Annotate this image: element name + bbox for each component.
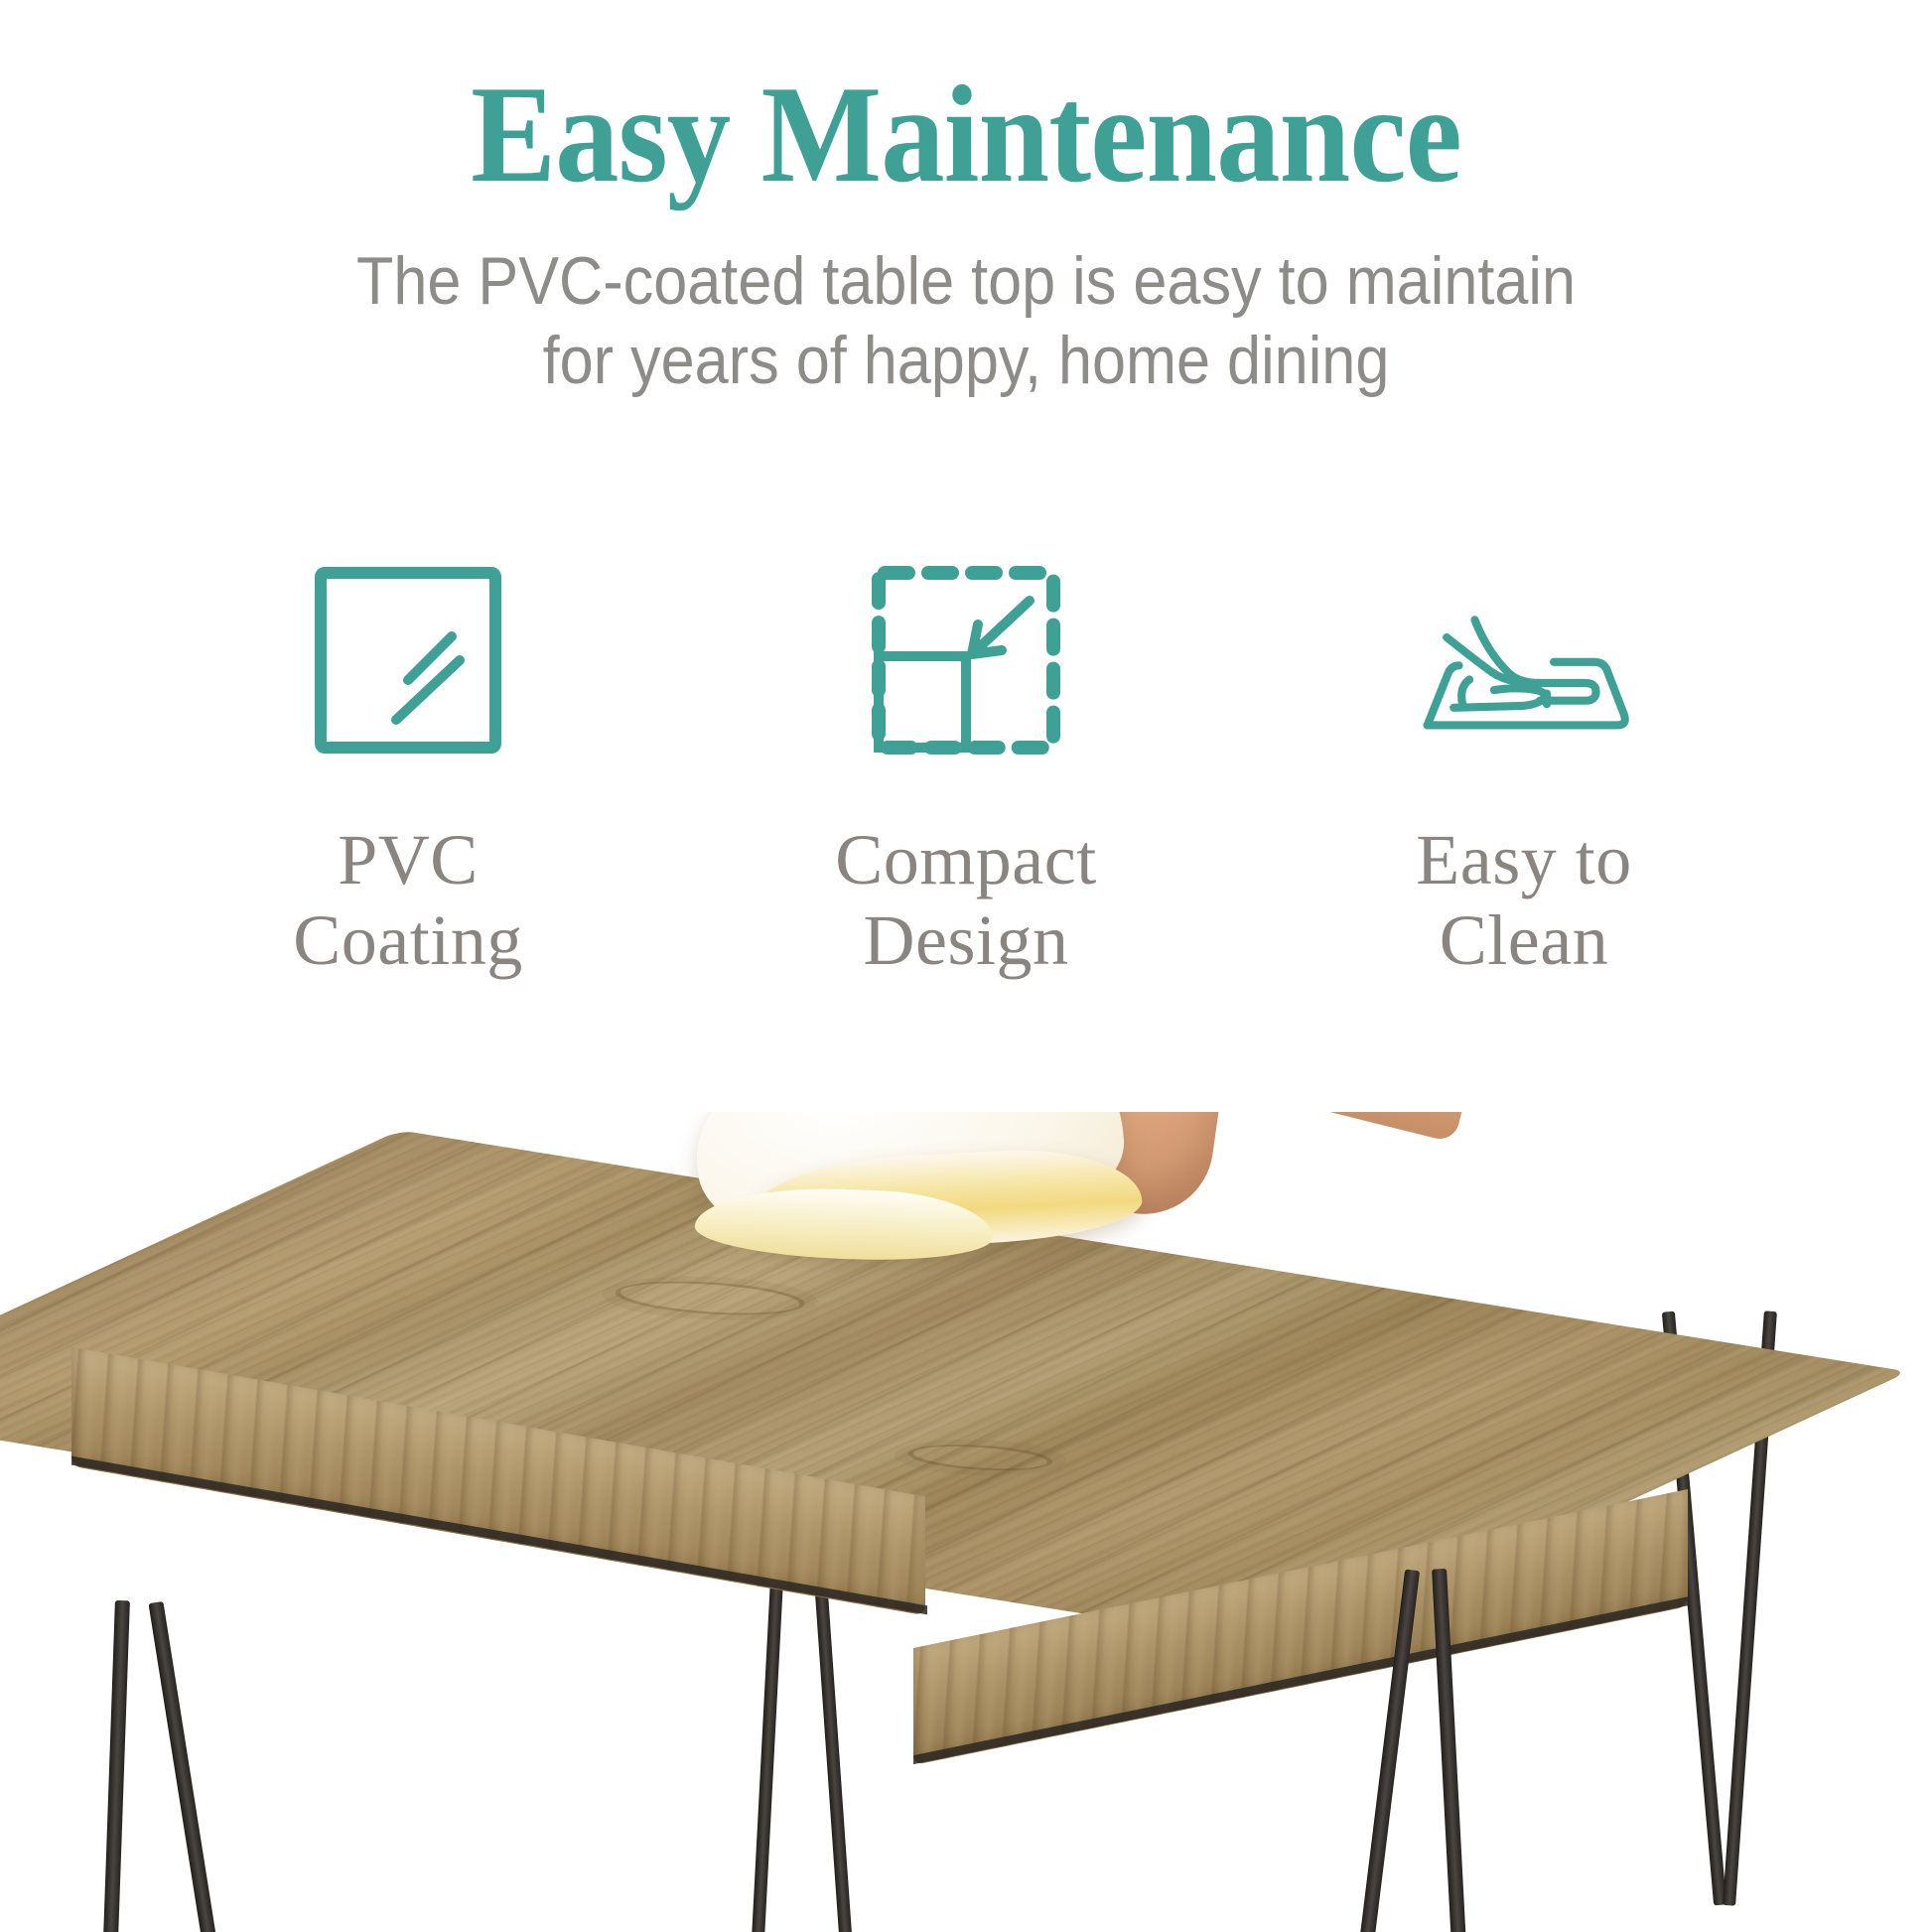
feature-item-easy-to-clean: Easy to Clean [1311, 536, 1737, 980]
page-title: Easy Maintenance [77, 0, 1855, 208]
feature-label-line-1: Easy to [1416, 820, 1631, 900]
header-block: Easy Maintenance The PVC-coated table to… [0, 0, 1932, 400]
feature-label-line-2: Clean [1416, 900, 1631, 981]
feature-label-line-2: Design [835, 900, 1096, 981]
feature-list: PVC Coating Compact Design [0, 536, 1932, 980]
feature-label-easy-to-clean: Easy to Clean [1416, 820, 1631, 980]
subtitle-line-2: for years of happy, home dining [96, 322, 1835, 401]
pvc-coating-square-shine-icon [309, 536, 507, 784]
feature-item-pvc-coating: PVC Coating [195, 536, 621, 980]
feature-label-pvc-coating: PVC Coating [293, 820, 523, 980]
product-feature-card: Easy Maintenance The PVC-coated table to… [0, 0, 1932, 1932]
feature-label-line-1: PVC [293, 820, 523, 900]
compact-design-resize-arrow-icon [867, 536, 1065, 784]
feature-label-line-1: Compact [835, 820, 1096, 900]
feature-label-compact-design: Compact Design [835, 820, 1096, 980]
page-subtitle: The PVC-coated table top is easy to main… [96, 208, 1835, 400]
easy-to-clean-hand-wipe-icon [1410, 536, 1638, 784]
subtitle-line-1: The PVC-coated table top is easy to main… [96, 242, 1835, 322]
feature-item-compact-design: Compact Design [753, 536, 1179, 980]
product-photo [0, 1112, 1932, 1932]
feature-label-line-2: Coating [293, 900, 523, 981]
